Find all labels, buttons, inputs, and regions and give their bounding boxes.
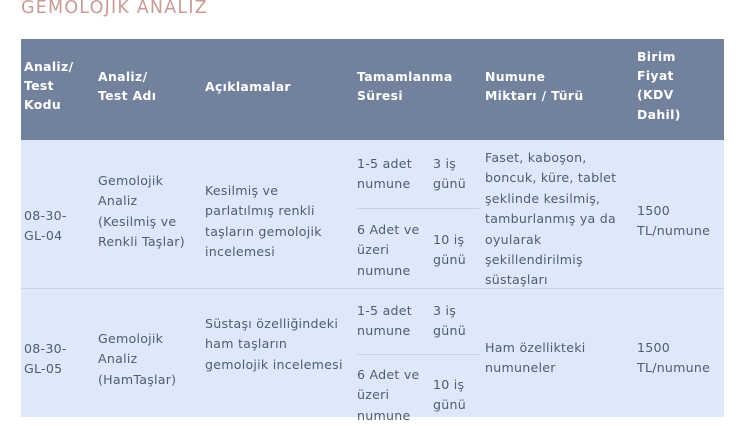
column-header-duration-label: TamamlanmaSüresi	[357, 69, 453, 103]
column-header-duration: TamamlanmaSüresi	[357, 67, 475, 105]
column-header-sample-label: NumuneMiktarı / Türü	[485, 69, 584, 103]
cell-sample-type: Ham özellikteki numuneler	[485, 338, 630, 379]
column-header-test-name-label: Analiz/Test Adı	[98, 69, 156, 103]
cell-sample-type: Faset, kaboşon, boncuk, küre, tablet şek…	[485, 148, 630, 291]
cell-unit-price: 1500 TL/numune	[637, 338, 722, 379]
duration-sub-divider	[357, 208, 479, 209]
column-header-descriptions: Açıklamalar	[205, 77, 345, 96]
column-header-unit-price: BirimFiyat(KDVDahil)	[637, 47, 715, 124]
column-header-test-name: Analiz/Test Adı	[98, 67, 193, 105]
duration-working-days: 10 iş günü	[433, 375, 493, 416]
duration-sub-divider	[357, 354, 479, 355]
column-header-test-code-label: Analiz/TestKodu	[24, 59, 73, 112]
cell-unit-price: 1500 TL/numune	[637, 201, 722, 242]
table-row[interactable]: 08-30- GL-04 Gemolojik Analiz (Kesilmiş …	[21, 140, 724, 288]
duration-working-days: 3 iş günü	[433, 154, 493, 195]
duration-working-days: 10 iş günü	[433, 230, 493, 271]
table-row[interactable]: 08-30- GL-05 Gemolojik Analiz (HamTaşlar…	[21, 288, 724, 417]
analysis-price-table: Analiz/TestKodu Analiz/Test Adı Açıklama…	[21, 39, 724, 417]
table-header-row: Analiz/TestKodu Analiz/Test Adı Açıklama…	[21, 39, 724, 140]
duration-working-days: 3 iş günü	[433, 301, 493, 342]
table-body: 08-30- GL-04 Gemolojik Analiz (Kesilmiş …	[21, 140, 724, 417]
page-title: GEMOLOJİK ANALİZ	[21, 0, 208, 18]
column-header-test-code: Analiz/TestKodu	[24, 57, 96, 115]
duration-sample-amount: 6 Adet ve üzeri numune	[357, 220, 437, 281]
column-header-unit-price-label: BirimFiyat(KDVDahil)	[637, 49, 681, 122]
duration-sample-amount: 1-5 adet numune	[357, 301, 437, 342]
duration-sample-amount: 1-5 adet numune	[357, 154, 437, 195]
column-header-sample: NumuneMiktarı / Türü	[485, 67, 625, 105]
